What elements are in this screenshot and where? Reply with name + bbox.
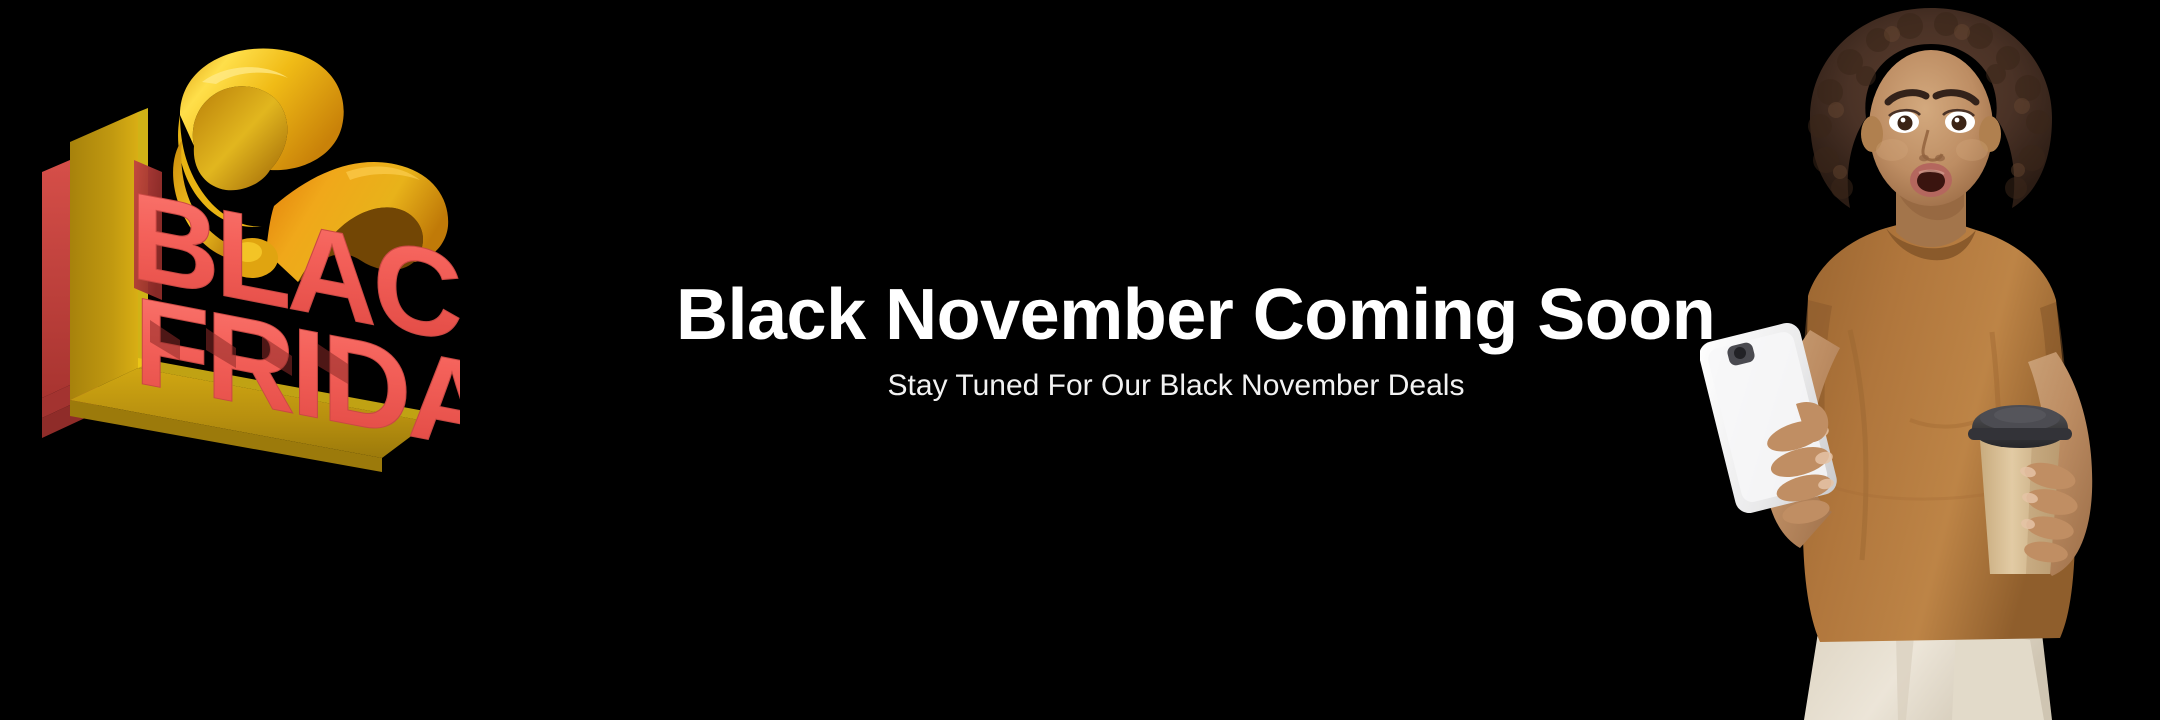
model-photo xyxy=(1700,0,2160,720)
page-subtitle: Stay Tuned For Our Black November Deals xyxy=(676,368,1676,404)
black-november-banner: BLACK BLACK FRIDAY Black November Coming… xyxy=(0,0,2160,720)
model-face xyxy=(1861,50,2001,206)
page-title: Black November Coming Soon xyxy=(676,276,1676,354)
model-phone-hand xyxy=(1700,320,1840,548)
headline-block: Black November Coming Soon Stay Tuned Fo… xyxy=(676,276,1676,404)
black-friday-3d-graphic: BLACK BLACK FRIDAY xyxy=(30,20,460,500)
